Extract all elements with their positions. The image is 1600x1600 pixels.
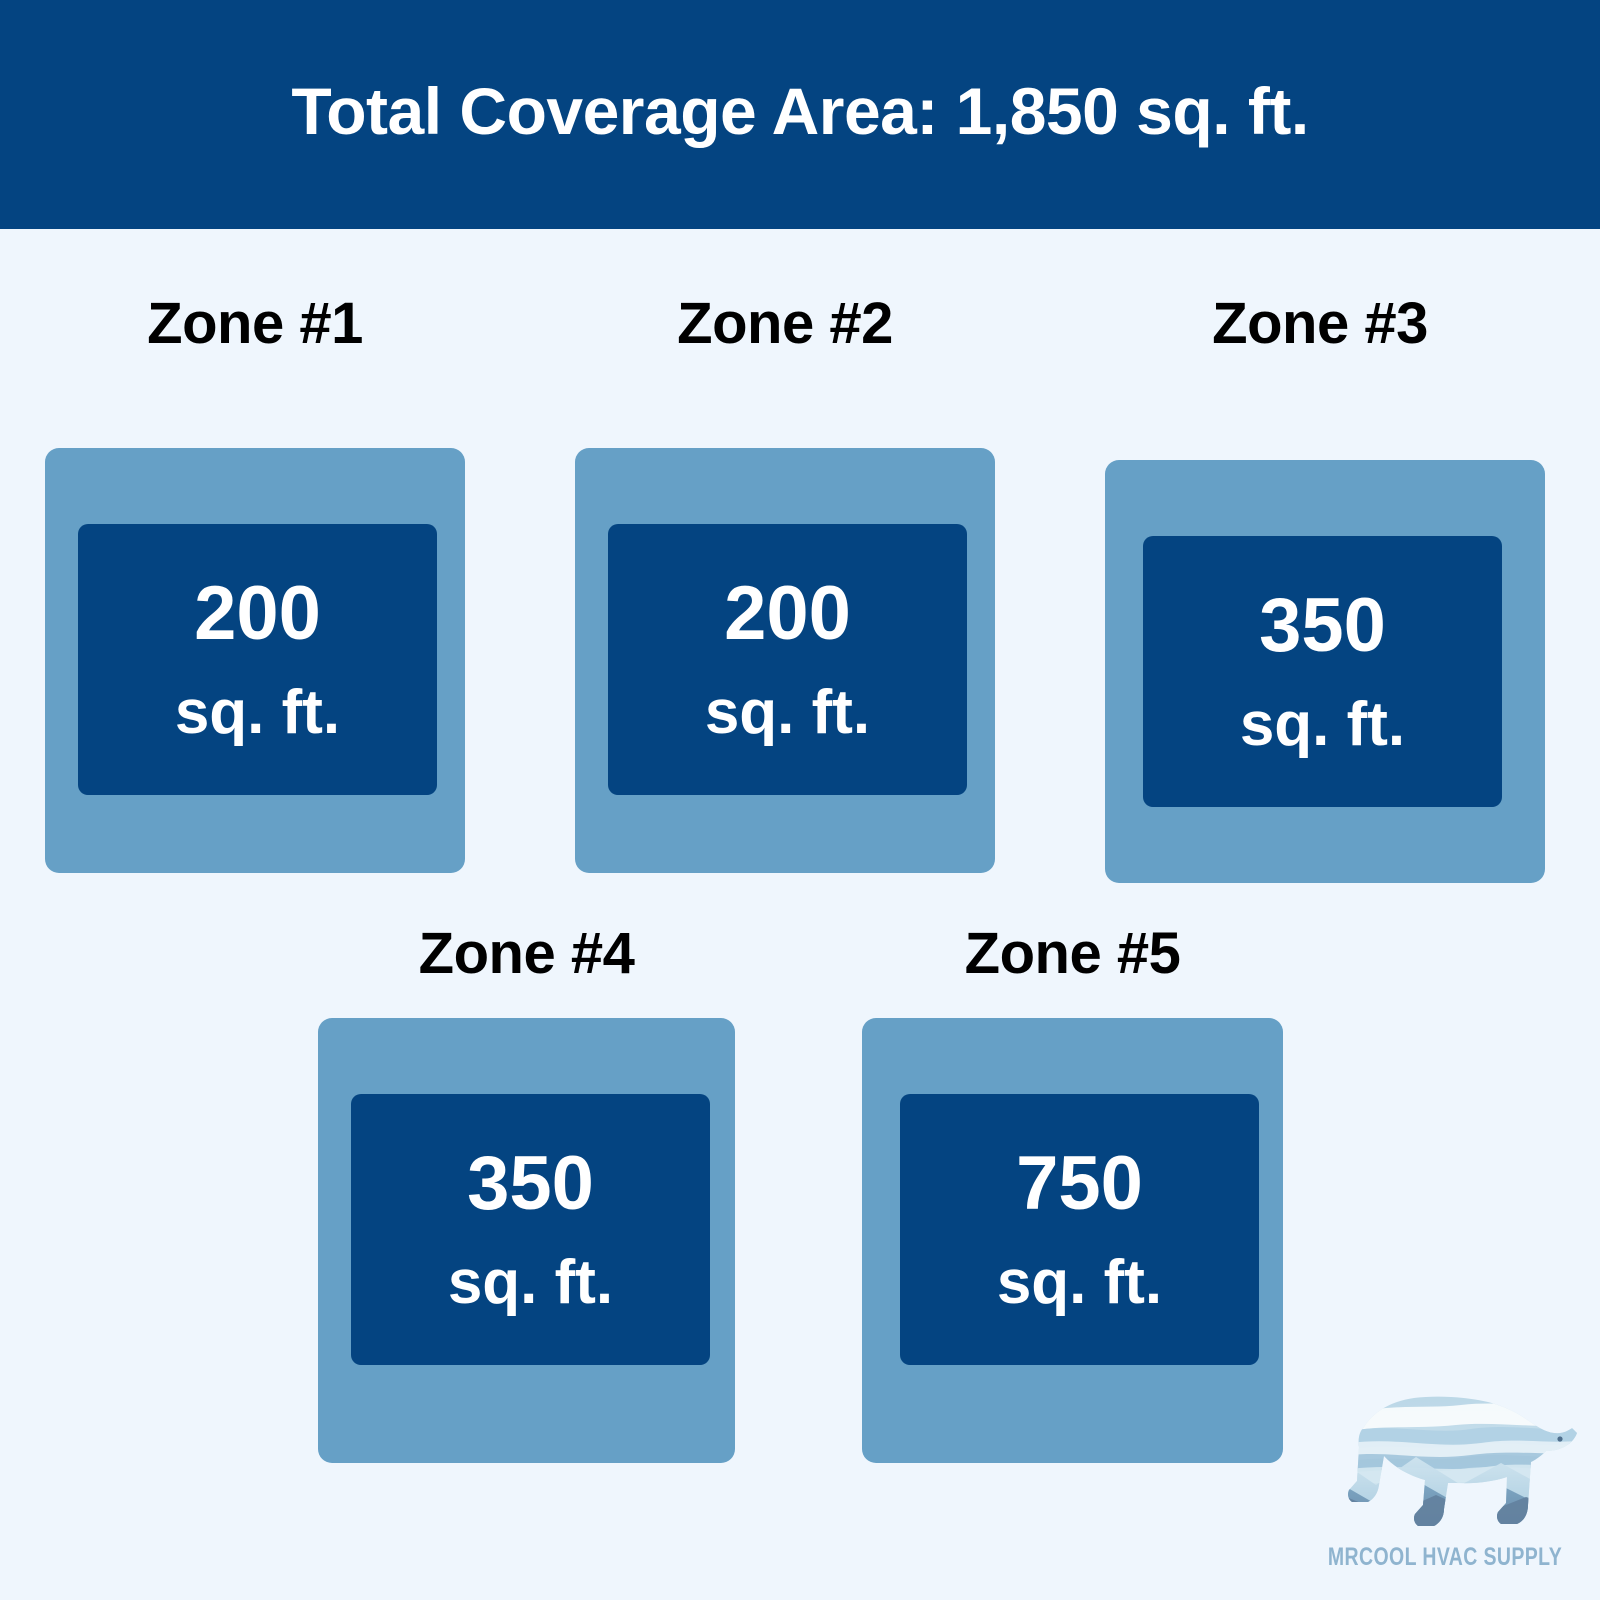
- brand-logo: MRCOOL HVAC SUPPLY: [1296, 1385, 1586, 1585]
- logo-wordmark: MRCOOL HVAC SUPPLY: [1328, 1543, 1554, 1572]
- zone-value-1: 200: [194, 576, 321, 652]
- bear-fill-layers: [1296, 1385, 1586, 1540]
- zone-outer-square-4: 350 sq. ft.: [318, 1018, 735, 1463]
- zone-value-4: 350: [467, 1146, 594, 1222]
- zone-value-2: 200: [724, 576, 851, 652]
- zone-card-2: Zone #2 200 sq. ft.: [575, 295, 995, 873]
- zone-card-1: Zone #1 200 sq. ft.: [45, 295, 465, 873]
- zone-card-3: Zone #3 350 sq. ft.: [1105, 295, 1545, 883]
- zone-inner-box-3: 350 sq. ft.: [1143, 536, 1502, 807]
- page-title: Total Coverage Area: 1,850 sq. ft.: [291, 78, 1308, 144]
- zone-unit-2: sq. ft.: [705, 682, 870, 744]
- zone-inner-box-2: 200 sq. ft.: [608, 524, 967, 795]
- zone-unit-4: sq. ft.: [448, 1252, 613, 1314]
- header-bar: Total Coverage Area: 1,850 sq. ft.: [0, 0, 1600, 229]
- zone-outer-square-3: 350 sq. ft.: [1105, 460, 1545, 883]
- zone-label-4: Zone #4: [318, 925, 735, 983]
- zone-label-5: Zone #5: [862, 925, 1283, 983]
- zone-outer-square-5: 750 sq. ft.: [862, 1018, 1283, 1463]
- zone-card-4: Zone #4 350 sq. ft.: [318, 925, 735, 1463]
- polar-bear-icon: [1296, 1385, 1586, 1540]
- zone-card-5: Zone #5 750 sq. ft.: [862, 925, 1283, 1463]
- zone-unit-5: sq. ft.: [997, 1252, 1162, 1314]
- zone-value-3: 350: [1259, 588, 1386, 664]
- zone-label-1: Zone #1: [45, 295, 465, 353]
- zone-value-5: 750: [1016, 1146, 1143, 1222]
- zone-inner-box-1: 200 sq. ft.: [78, 524, 437, 795]
- zone-unit-1: sq. ft.: [175, 682, 340, 744]
- zone-inner-box-5: 750 sq. ft.: [900, 1094, 1259, 1365]
- zone-label-3: Zone #3: [1105, 295, 1535, 353]
- bear-eye-icon: [1557, 1436, 1562, 1441]
- zone-unit-3: sq. ft.: [1240, 694, 1405, 756]
- zone-inner-box-4: 350 sq. ft.: [351, 1094, 710, 1365]
- zone-outer-square-1: 200 sq. ft.: [45, 448, 465, 873]
- zone-outer-square-2: 200 sq. ft.: [575, 448, 995, 873]
- zone-label-2: Zone #2: [575, 295, 995, 353]
